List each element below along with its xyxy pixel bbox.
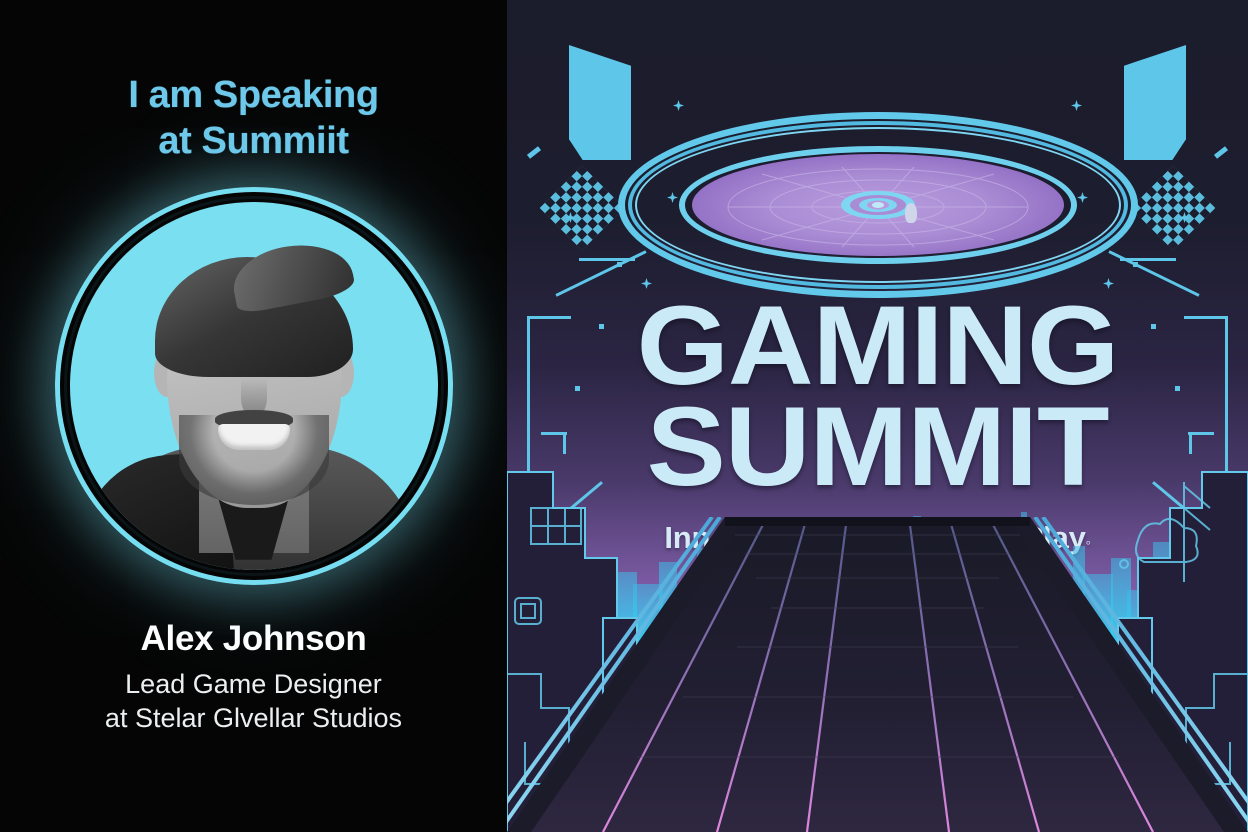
pixel-diamond-right-icon: [1131, 166, 1216, 251]
speaker-role-title: Lead Game Designer: [105, 667, 402, 702]
perspective-grid-road: [507, 517, 1248, 832]
pixel-diamond-left-icon: [540, 166, 625, 251]
portrait-smile: [218, 424, 290, 450]
radar-portal: [618, 112, 1138, 298]
heading-line-1: I am Speaking: [44, 72, 464, 118]
grid-road-icon: [507, 517, 1248, 832]
speaking-heading: I am Speaking at Summiit: [44, 72, 464, 165]
portal-core-center: [872, 202, 884, 208]
speaker-name: Alex Johnson: [141, 619, 367, 659]
speaker-panel: I am Speaking at Summiit: [0, 0, 507, 832]
alien-figure-icon: [905, 203, 917, 223]
speaker-announcement-poster: I am Speaking at Summiit: [0, 0, 1248, 832]
event-title-line-1: GAMING: [507, 296, 1248, 397]
speaker-company: at Stelar Glvellar Studios: [105, 701, 402, 736]
pixel-slash-icon: [1214, 146, 1228, 159]
sparkle-cross-icon: [1071, 100, 1082, 111]
sparkle-cross-icon: [673, 100, 684, 111]
portal-radar-plate: [692, 154, 1064, 256]
avatar-disc: [70, 202, 438, 570]
speaker-role: Lead Game Designer at Stelar Glvellar St…: [105, 667, 402, 736]
heading-line-2: at Summiit: [44, 118, 464, 164]
speaker-portrait-image: [70, 202, 438, 570]
pixel-slash-icon: [527, 146, 541, 159]
event-artwork-panel: GAMING SUMMIT Innovating the Future of P…: [507, 0, 1248, 832]
avatar: [55, 187, 453, 585]
